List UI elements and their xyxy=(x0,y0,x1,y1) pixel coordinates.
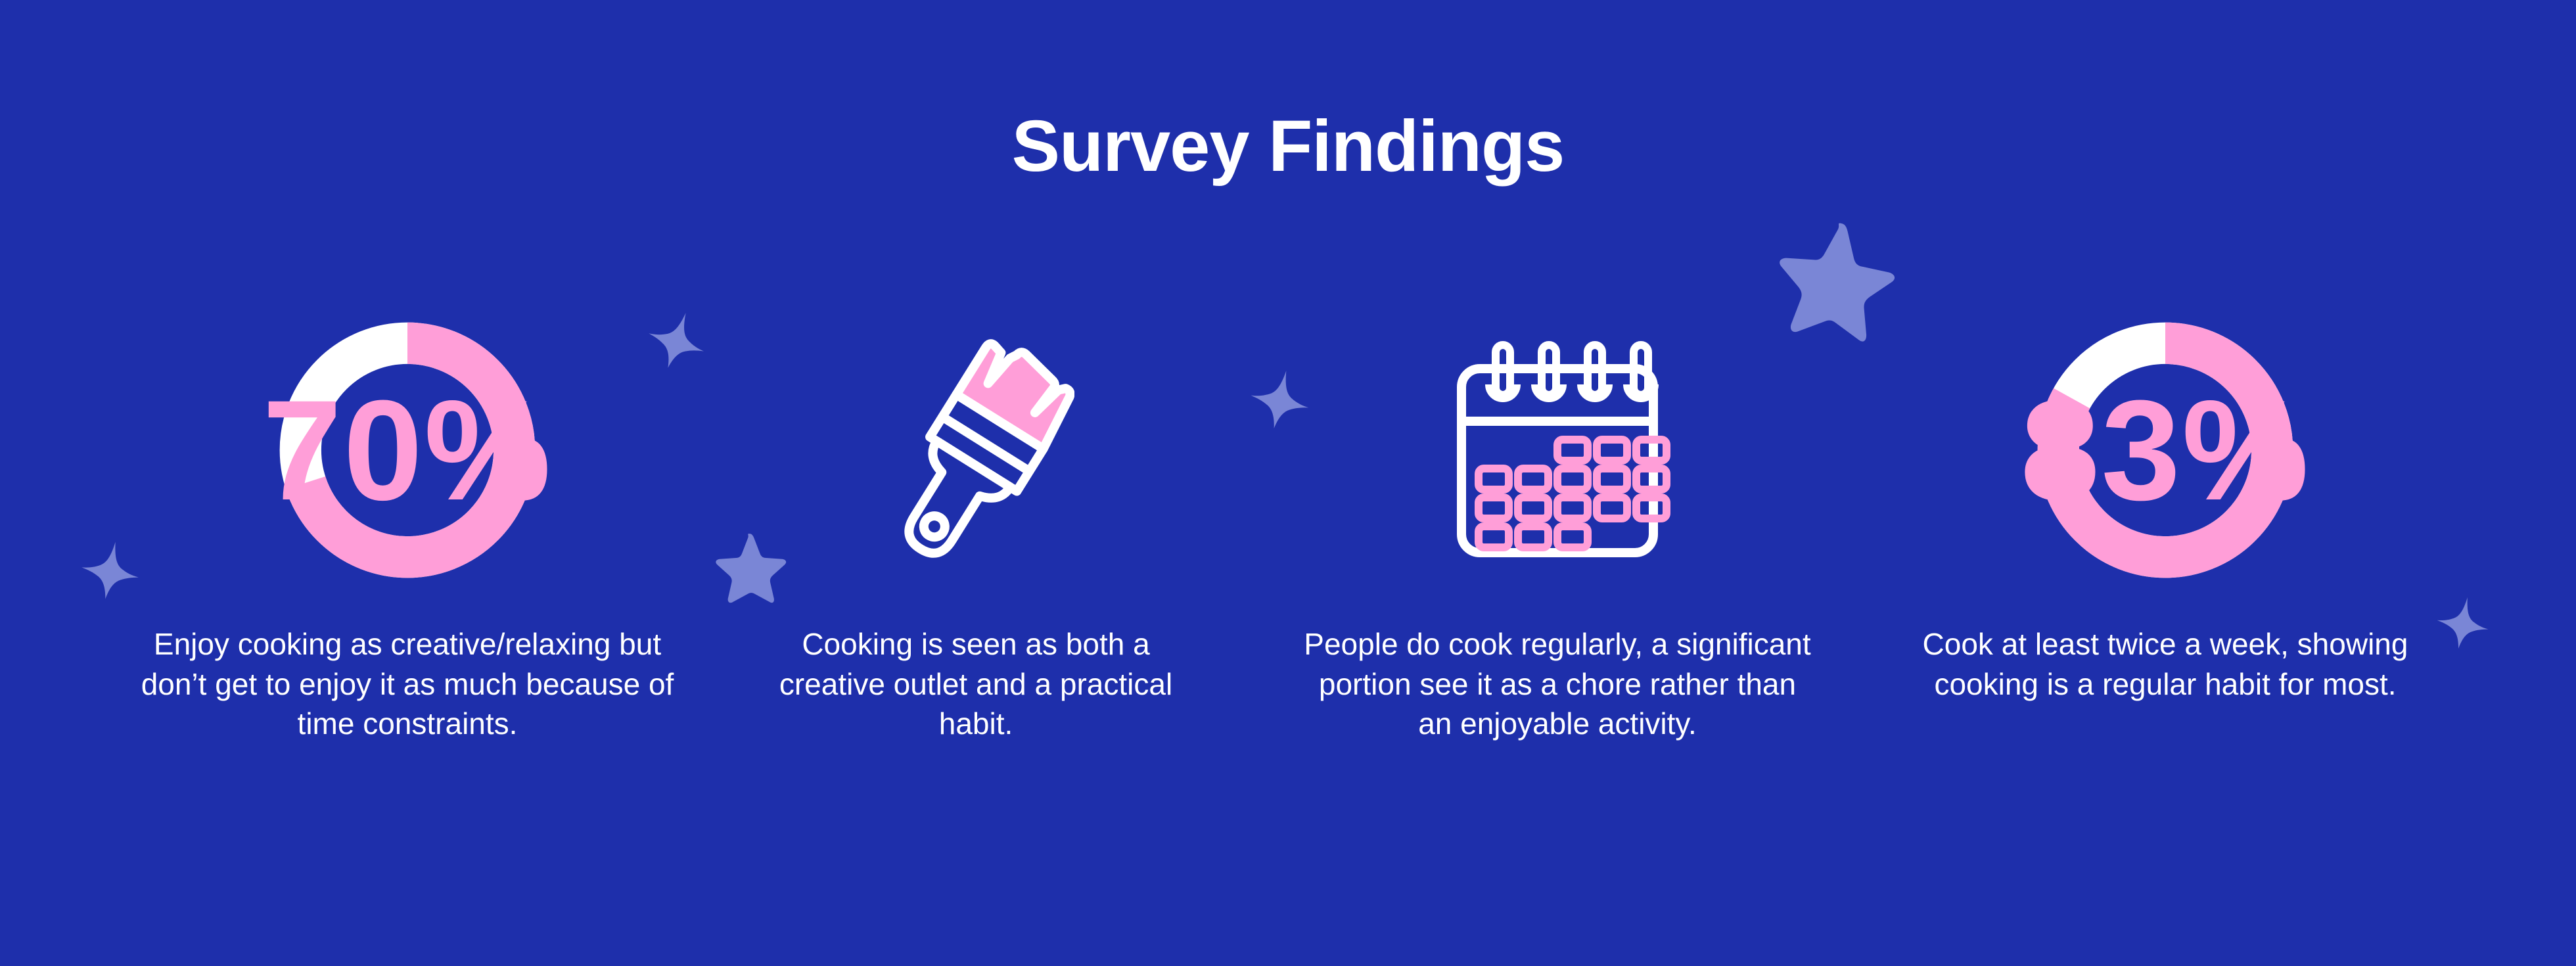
donut-chart-83: 83% xyxy=(2017,276,2314,624)
donut-value-label: 70% xyxy=(262,371,552,530)
calendar-visual xyxy=(1433,276,1682,624)
stat-caption: Enjoy cooking as creative/relaxing but d… xyxy=(118,624,697,744)
stat-column-2: Cooking is seen as both a creative outle… xyxy=(687,276,1265,744)
paintbrush-visual xyxy=(877,276,1074,624)
stat-caption: People do cook regularly, a significant … xyxy=(1301,624,1814,744)
stat-caption: Cook at least twice a week, showing cook… xyxy=(1909,624,2422,704)
stat-caption: Cooking is seen as both a creative outle… xyxy=(766,624,1186,744)
donut-value-label: 83% xyxy=(2020,371,2310,530)
calendar-day-cells xyxy=(1479,440,1667,547)
stat-column-3: People do cook regularly, a significant … xyxy=(1268,276,1847,744)
stat-column-4: 83% Cook at least twice a week, showing … xyxy=(1876,276,2454,704)
donut-chart-70: 70% xyxy=(259,276,556,624)
calendar-icon xyxy=(1433,332,1682,568)
page-title: Survey Findings xyxy=(0,110,2576,183)
donut-chart-svg: 70% xyxy=(259,302,556,599)
paintbrush-icon xyxy=(877,319,1074,582)
stat-column-1: 70% Enjoy cooking as creative/relaxing b… xyxy=(118,276,697,744)
donut-chart-svg: 83% xyxy=(2017,302,2314,599)
infographic-canvas: Survey Findings 70% Enjoy cooking as cre… xyxy=(0,0,2576,966)
